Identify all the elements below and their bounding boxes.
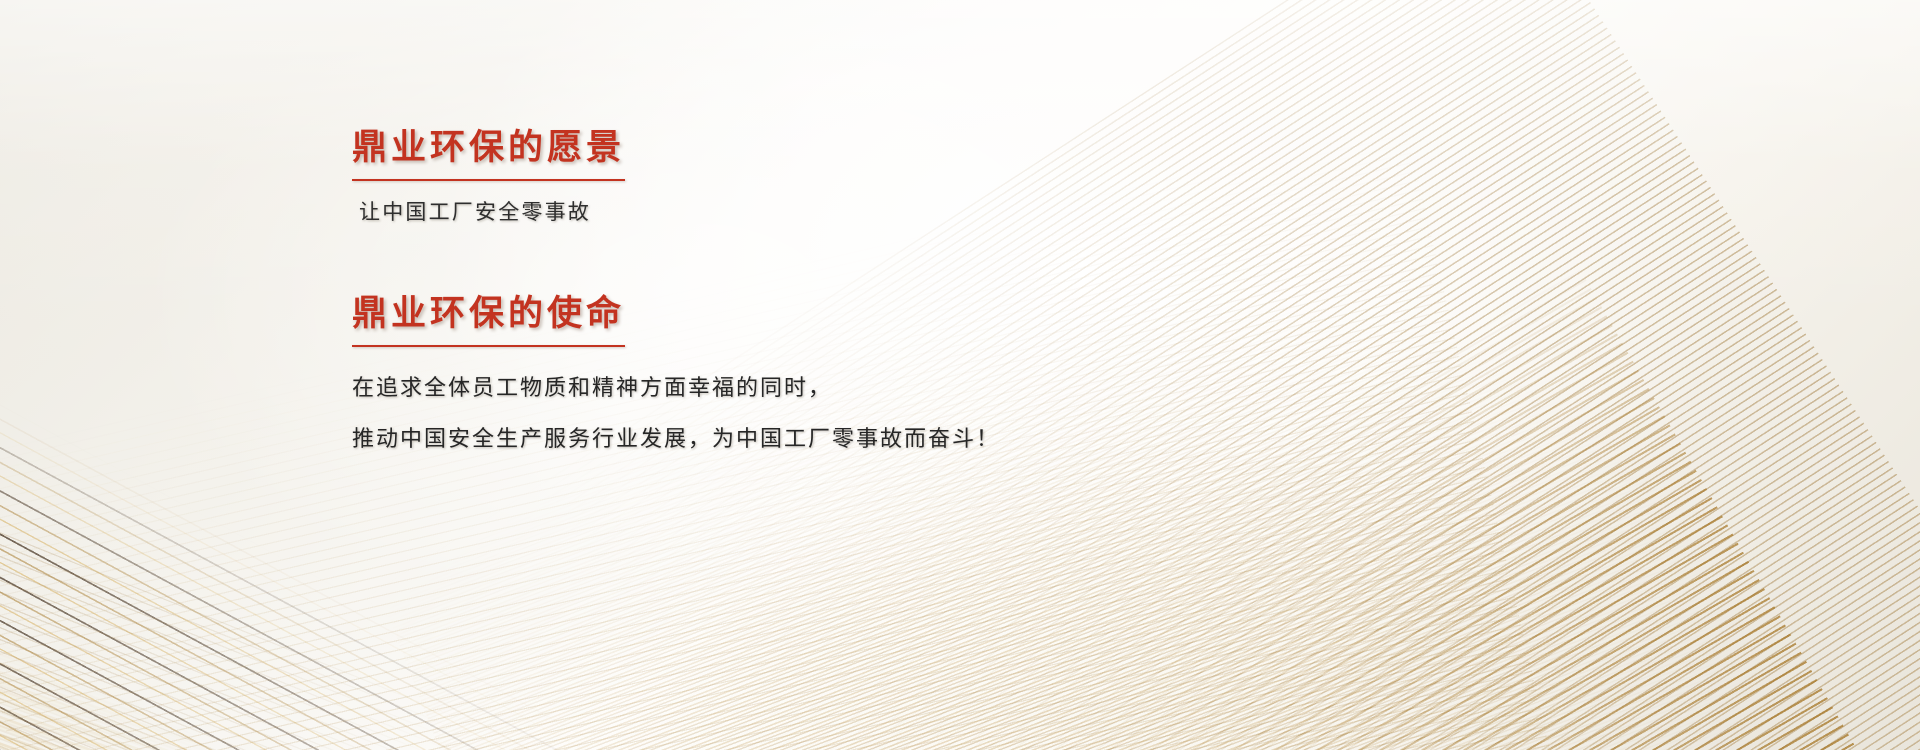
- mission-heading: 鼎业环保的使命: [352, 292, 625, 347]
- vision-block: 鼎业环保的愿景 让中国工厂安全零事故: [352, 126, 1252, 228]
- mission-line-1: 在追求全体员工物质和精神方面幸福的同时，: [352, 371, 1252, 405]
- vision-heading: 鼎业环保的愿景: [352, 126, 625, 181]
- vision-subtitle: 让中国工厂安全零事故: [359, 197, 1252, 229]
- mission-block: 鼎业环保的使命 在追求全体员工物质和精神方面幸福的同时， 推动中国安全生产服务行…: [352, 292, 1252, 456]
- banner-content: 鼎业环保的愿景 让中国工厂安全零事故 鼎业环保的使命 在追求全体员工物质和精神方…: [352, 126, 1252, 456]
- banner-hero: 鼎业环保的愿景 让中国工厂安全零事故 鼎业环保的使命 在追求全体员工物质和精神方…: [0, 0, 1920, 750]
- mission-body: 在追求全体员工物质和精神方面幸福的同时， 推动中国安全生产服务行业发展，为中国工…: [352, 371, 1252, 456]
- mission-line-2: 推动中国安全生产服务行业发展，为中国工厂零事故而奋斗！: [352, 422, 1252, 456]
